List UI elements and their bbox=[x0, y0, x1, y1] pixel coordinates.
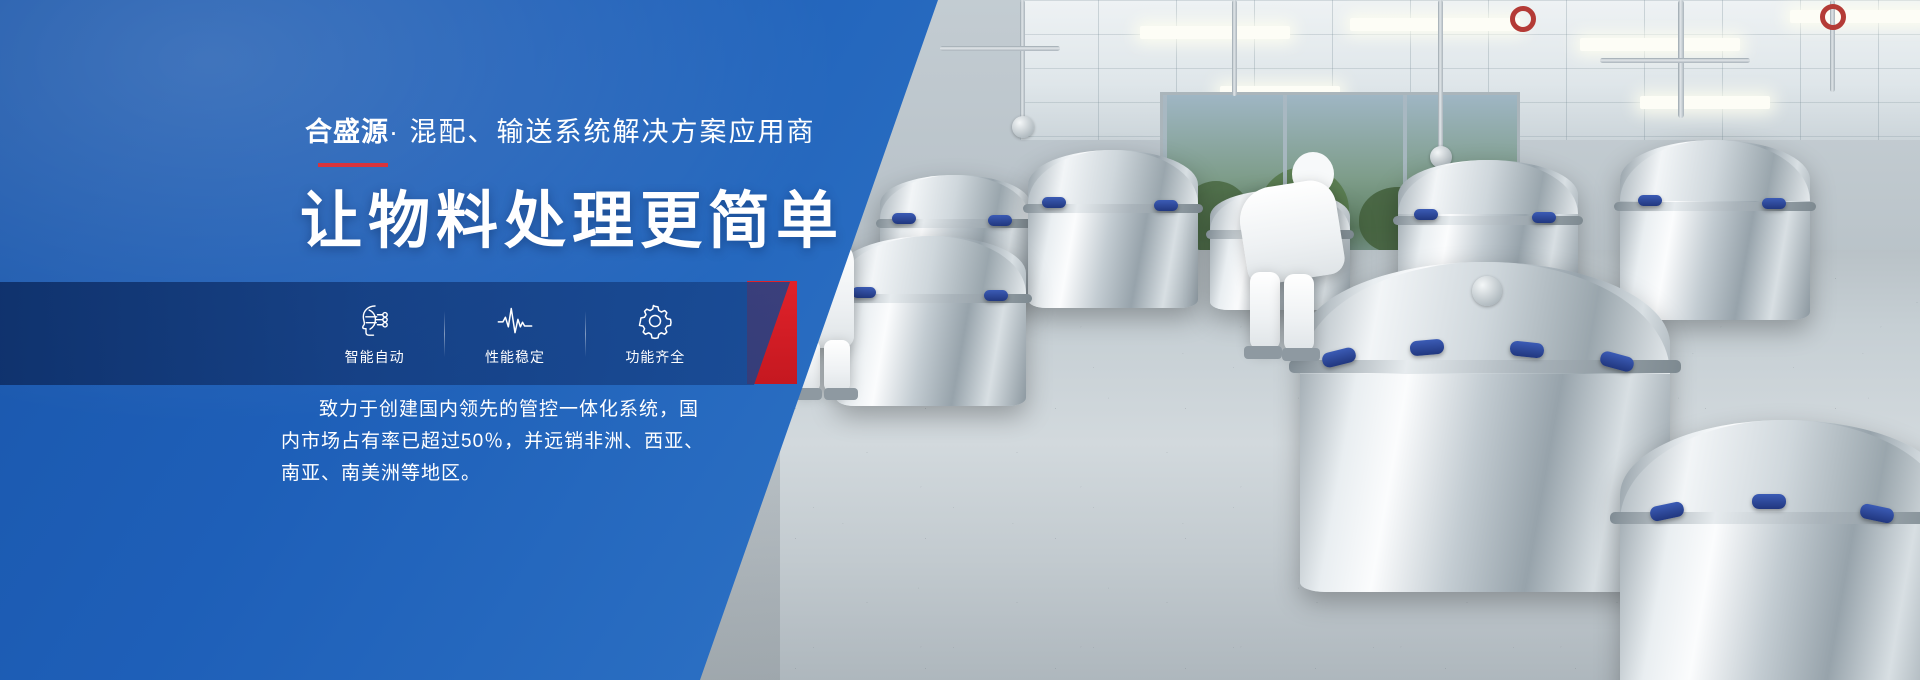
feature-list: 智能自动 性能稳定 功能齐全 bbox=[305, 282, 725, 385]
hero-banner: 合盛源· 混配、输送系统解决方案应用商 让物料处理更简单 智能 bbox=[0, 0, 1920, 680]
tank-clamp bbox=[1532, 212, 1556, 223]
overhead-pipe bbox=[1438, 0, 1443, 150]
valve-icon bbox=[1472, 276, 1502, 306]
mixing-tank bbox=[1028, 150, 1198, 308]
banner-headline: 让物料处理更简单 bbox=[300, 185, 844, 259]
worker-leg bbox=[1250, 272, 1280, 350]
tank-clamp bbox=[1762, 198, 1786, 209]
ceiling-light bbox=[1350, 18, 1520, 31]
ceiling-light bbox=[1790, 10, 1920, 23]
overhead-pipe bbox=[1232, 0, 1237, 96]
foreground-vessel bbox=[1620, 420, 1920, 680]
brand-name: 合盛源 bbox=[305, 117, 389, 147]
tank-clamp bbox=[1752, 494, 1786, 509]
tank-clamp bbox=[1154, 200, 1178, 211]
feature-item-full-functionality[interactable]: 功能齐全 bbox=[586, 301, 725, 367]
tank-clamp bbox=[1414, 209, 1438, 220]
gear-icon bbox=[635, 301, 675, 341]
red-handwheel bbox=[1820, 4, 1846, 30]
banner-content: 合盛源· 混配、输送系统解决方案应用商 让物料处理更简单 智能 bbox=[0, 0, 938, 680]
tank-clamp bbox=[984, 290, 1008, 301]
ceiling-light bbox=[1580, 38, 1740, 51]
tank-clamp bbox=[1638, 195, 1662, 206]
ceiling-light bbox=[1640, 96, 1770, 109]
tank-clamp bbox=[1042, 197, 1066, 208]
valve-icon bbox=[1012, 116, 1034, 138]
ai-head-icon bbox=[355, 301, 395, 341]
overhead-pipe bbox=[940, 46, 1060, 51]
feature-label: 智能自动 bbox=[345, 347, 405, 367]
worker-shoe bbox=[1244, 346, 1282, 359]
banner-subtitle: 合盛源· 混配、输送系统解决方案应用商 bbox=[305, 119, 816, 146]
mixing-tank bbox=[1620, 140, 1810, 320]
red-handwheel bbox=[1510, 6, 1536, 32]
worker-leg bbox=[1284, 274, 1314, 352]
pulse-wave-icon bbox=[495, 301, 535, 341]
tank-clamp bbox=[988, 215, 1012, 226]
worker-shoe bbox=[1282, 348, 1320, 361]
subtitle-rest: · 混配、输送系统解决方案应用商 bbox=[389, 117, 816, 147]
overhead-pipe bbox=[1020, 0, 1025, 120]
ceiling-light bbox=[1140, 26, 1290, 39]
feature-label: 性能稳定 bbox=[485, 347, 545, 367]
banner-paragraph: 致力于创建国内领先的管控一体化系统，国内市场占有率已超过50％，并远销非洲、西亚… bbox=[281, 394, 711, 490]
title-divider bbox=[318, 163, 388, 167]
foreground-vessel bbox=[1300, 262, 1670, 592]
worker-right bbox=[1236, 150, 1346, 390]
overhead-pipe bbox=[1600, 58, 1750, 63]
feature-item-stable-performance[interactable]: 性能稳定 bbox=[445, 301, 584, 367]
worker-suit bbox=[1235, 177, 1347, 287]
feature-label: 功能齐全 bbox=[625, 347, 685, 367]
feature-item-intelligent-automation[interactable]: 智能自动 bbox=[305, 301, 444, 367]
